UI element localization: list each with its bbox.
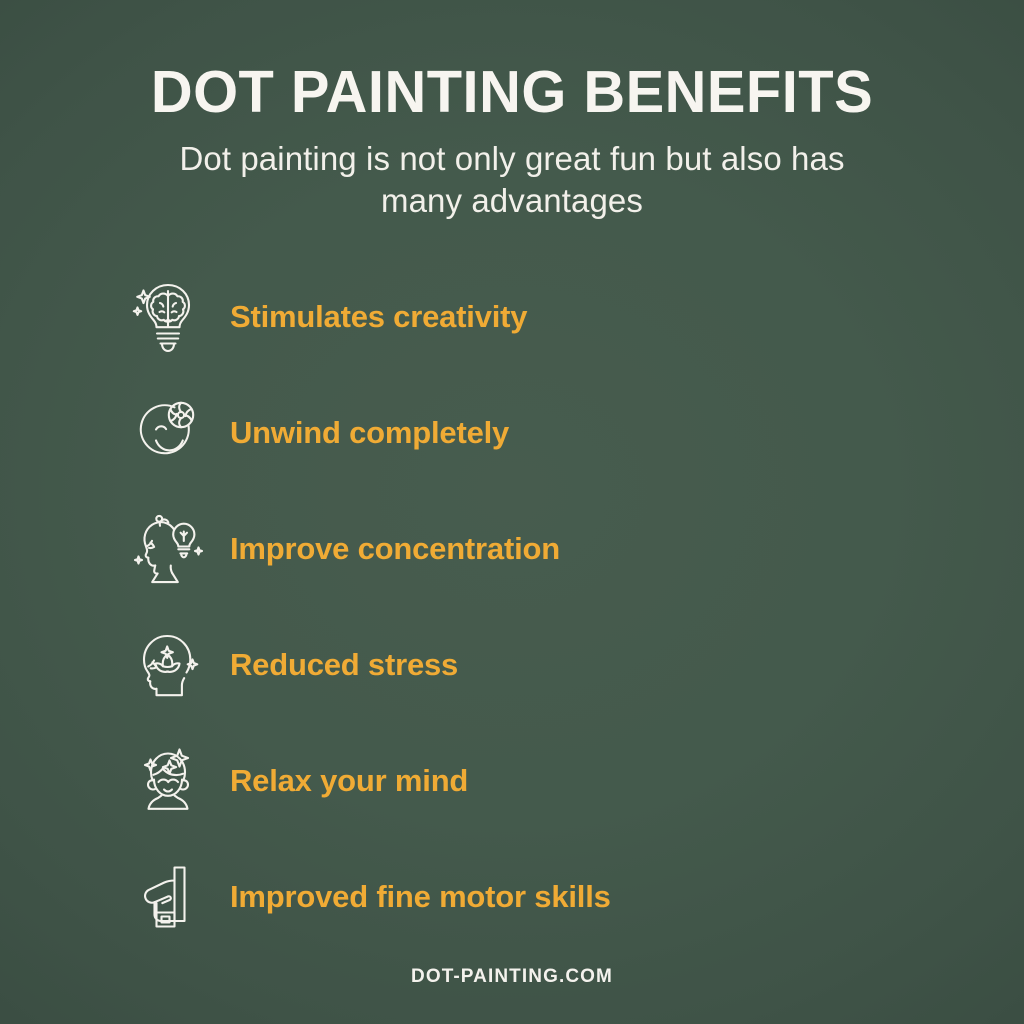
- benefit-label: Relax your mind: [230, 763, 468, 799]
- list-item: Unwind completely: [0, 386, 1024, 480]
- list-item: Improve concentration: [0, 502, 1024, 596]
- poster-footer: DOT-PAINTING.COM: [0, 966, 1024, 988]
- page-title: DOT PAINTING BENEFITS: [10, 62, 1014, 122]
- benefit-label: Improve concentration: [230, 531, 560, 567]
- list-item: Reduced stress: [0, 618, 1024, 712]
- website-url: DOT-PAINTING.COM: [411, 966, 613, 987]
- subtitle-line-1: Dot painting is not only great fun but a…: [179, 140, 844, 177]
- benefit-label: Reduced stress: [230, 647, 458, 683]
- poster-canvas: DOT PAINTING BENEFITS Dot painting is no…: [0, 0, 1024, 1024]
- list-item: Improved fine motor skills: [0, 850, 1024, 944]
- head-lotus-sparkle-icon: [132, 625, 204, 705]
- smiling-face-flower-icon: [132, 393, 204, 473]
- benefit-label: Improved fine motor skills: [230, 879, 611, 915]
- calm-face-stars-icon: [132, 741, 204, 821]
- head-profile-lightbulb-icon: [132, 509, 204, 589]
- hand-holding-block-icon: [132, 857, 204, 937]
- list-item: Relax your mind: [0, 734, 1024, 828]
- benefits-list: Stimulates creativity Unwind completely: [0, 270, 1024, 966]
- benefit-label: Unwind completely: [230, 415, 509, 451]
- page-subtitle: Dot painting is not only great fun but a…: [147, 138, 877, 222]
- brain-lightbulb-icon: [132, 277, 204, 357]
- benefit-label: Stimulates creativity: [230, 299, 527, 335]
- list-item: Stimulates creativity: [0, 270, 1024, 364]
- poster-header: DOT PAINTING BENEFITS Dot painting is no…: [0, 0, 1024, 223]
- subtitle-line-2: many advantages: [381, 182, 643, 219]
